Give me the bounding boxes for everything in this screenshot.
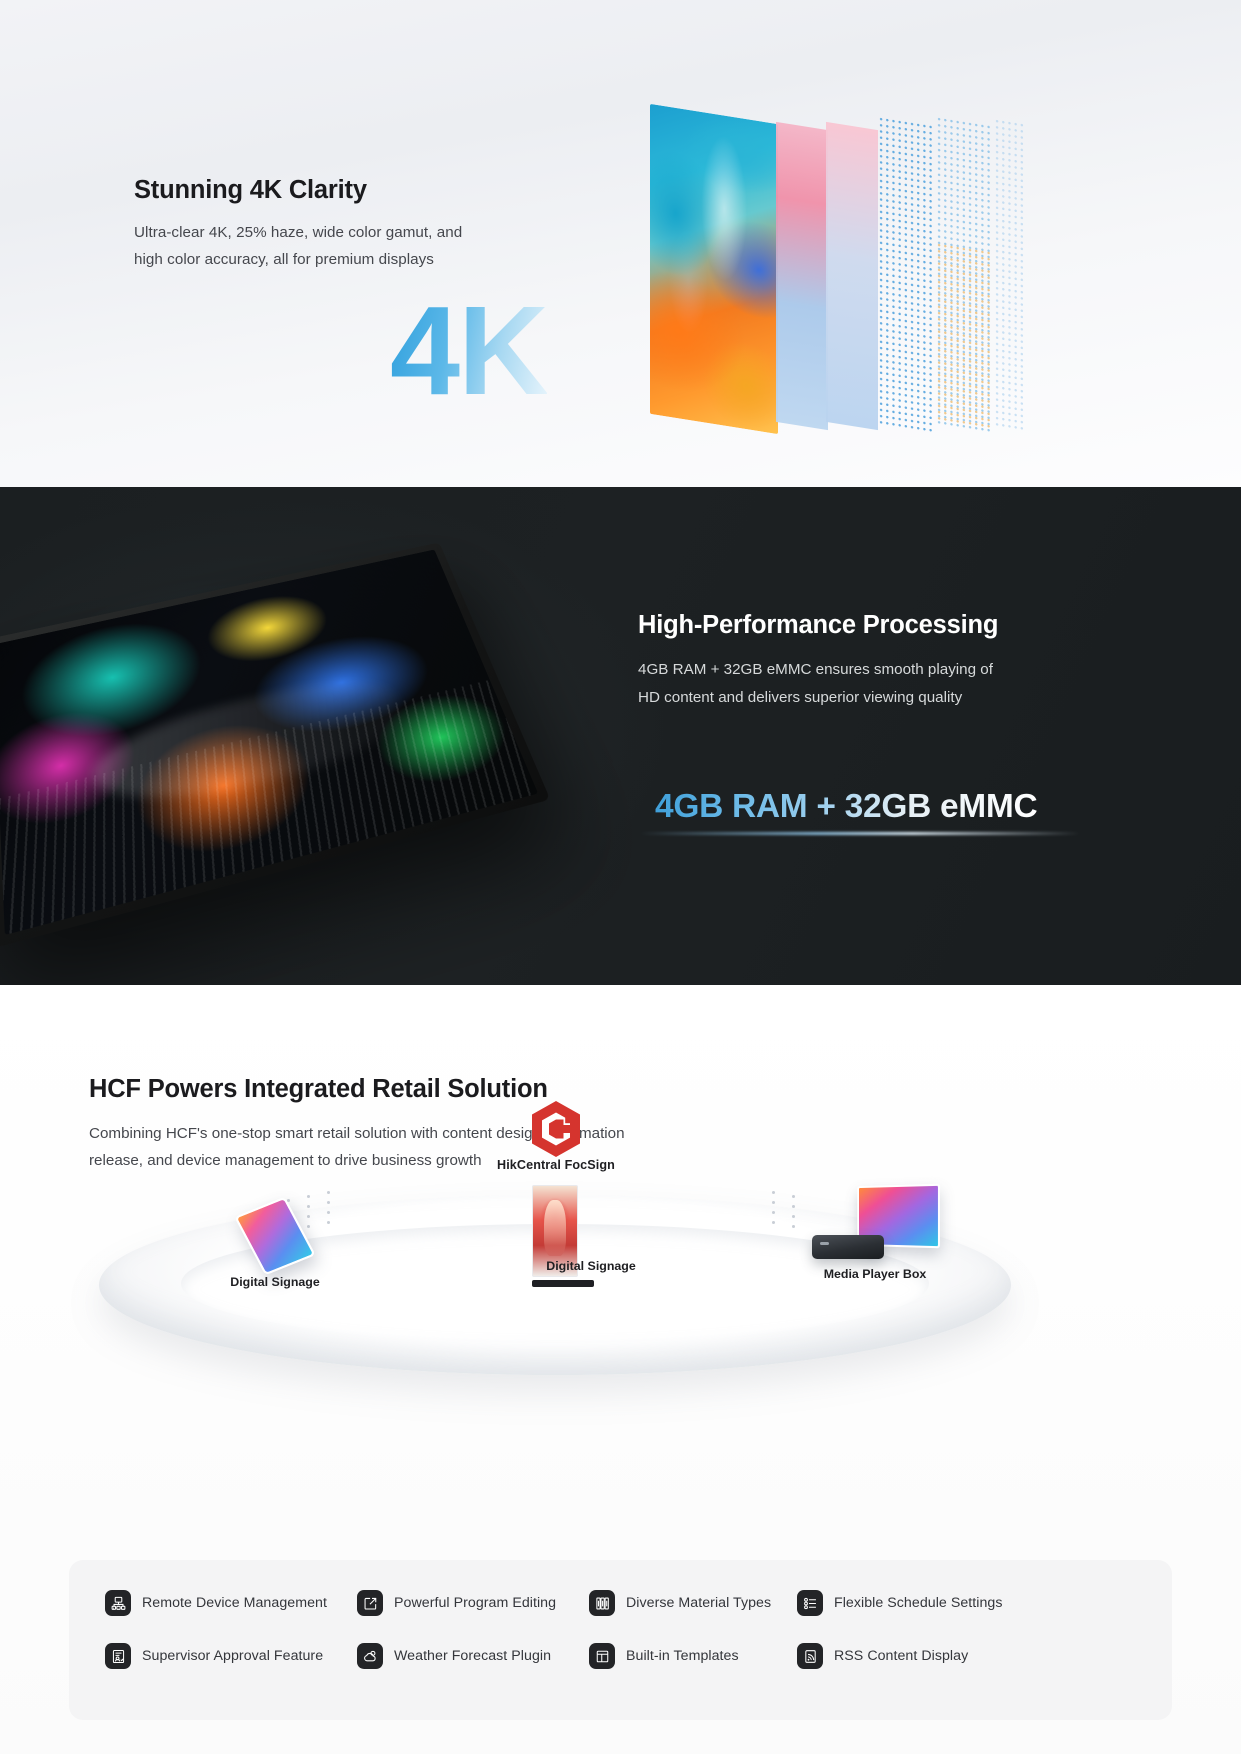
diagram-node-media-player-box[interactable]: Media Player Box [760, 1185, 990, 1281]
feature-flexible-schedule-settings[interactable]: Flexible Schedule Settings [797, 1590, 1136, 1616]
display-panel-illustration [650, 96, 1010, 446]
panel-color-face [650, 104, 778, 434]
diagram-node-digital-signage-tablet[interactable]: Digital Signage [180, 1203, 370, 1289]
feature-label: Weather Forecast Plugin [394, 1648, 551, 1664]
ecosystem-diagram: HikCentral FocSign Digital Signage [0, 1175, 1241, 1405]
feature-powerful-program-editing[interactable]: Powerful Program Editing [357, 1590, 589, 1616]
performance-subtitle-line-1: 4GB RAM + 32GB eMMC ensures smooth playi… [638, 661, 993, 678]
feature-label: Diverse Material Types [626, 1595, 771, 1611]
feature-label: RSS Content Display [834, 1648, 968, 1664]
feature-label: Supervisor Approval Feature [142, 1648, 323, 1664]
rss-feed-icon [797, 1643, 823, 1669]
pixel-grid-warm [936, 242, 992, 431]
tablet-device-icon [234, 1197, 315, 1276]
media-box-player [812, 1235, 884, 1259]
hcf-section: HCF Powers Integrated Retail Solution Co… [0, 985, 1241, 1754]
schedule-list-icon [797, 1590, 823, 1616]
feature-list-panel: Remote Device Management Powerful Progra… [69, 1560, 1172, 1720]
feature-label: Flexible Schedule Settings [834, 1595, 1003, 1611]
approval-document-icon [105, 1643, 131, 1669]
feature-built-in-templates[interactable]: Built-in Templates [589, 1643, 797, 1669]
node-label: Digital Signage [476, 1259, 706, 1273]
hikcentral-focsign-logo-icon [530, 1100, 582, 1158]
kiosk-base [532, 1280, 594, 1287]
network-device-icon [105, 1590, 131, 1616]
clarity-section: Stunning 4K Clarity Ultra-clear 4K, 25% … [0, 0, 1241, 487]
clarity-subtitle: Ultra-clear 4K, 25% haze, wide color gam… [134, 219, 654, 273]
hcf-title: HCF Powers Integrated Retail Solution [89, 1075, 949, 1104]
feature-label: Built-in Templates [626, 1648, 739, 1664]
feature-weather-forecast-plugin[interactable]: Weather Forecast Plugin [357, 1643, 589, 1669]
feature-label: Remote Device Management [142, 1595, 327, 1611]
pixel-grid-3 [994, 118, 1024, 431]
resolution-badge-4k: 4K [390, 288, 547, 414]
tablet-body [0, 542, 550, 948]
panel-slab-1 [776, 122, 828, 430]
clarity-title: Stunning 4K Clarity [134, 176, 654, 205]
feature-diverse-material-types[interactable]: Diverse Material Types [589, 1590, 797, 1616]
feature-grid: Remote Device Management Powerful Progra… [105, 1590, 1136, 1669]
node-label: Digital Signage [180, 1275, 370, 1289]
weather-cloud-icon [357, 1643, 383, 1669]
platform-label: HikCentral FocSign [420, 1158, 692, 1172]
performance-title: High-Performance Processing [638, 611, 1158, 640]
panel-slab-2 [826, 122, 878, 430]
performance-section: High-Performance Processing 4GB RAM + 32… [0, 487, 1241, 985]
pixel-grid-1 [878, 116, 934, 433]
diagram-node-digital-signage-kiosk[interactable]: Digital Signage [440, 1185, 670, 1273]
spec-underline-glow [640, 832, 1080, 835]
performance-text-block: High-Performance Processing 4GB RAM + 32… [638, 611, 1158, 712]
tablet-illustration [0, 497, 600, 985]
feature-rss-content-display[interactable]: RSS Content Display [797, 1643, 1136, 1669]
clarity-subtitle-line-1: Ultra-clear 4K, 25% haze, wide color gam… [134, 224, 462, 241]
feature-remote-device-management[interactable]: Remote Device Management [105, 1590, 357, 1616]
spec-highlight: 4GB RAM + 32GB eMMC [655, 788, 1037, 826]
node-label: Media Player Box [760, 1267, 990, 1281]
clarity-text-block: Stunning 4K Clarity Ultra-clear 4K, 25% … [134, 176, 654, 273]
tablet-screen-artwork [0, 550, 538, 935]
edit-pencil-icon [357, 1590, 383, 1616]
template-layout-icon [589, 1643, 615, 1669]
material-library-icon [589, 1590, 615, 1616]
feature-supervisor-approval[interactable]: Supervisor Approval Feature [105, 1643, 357, 1669]
feature-label: Powerful Program Editing [394, 1595, 556, 1611]
clarity-subtitle-line-2: high color accuracy, all for premium dis… [134, 251, 434, 268]
media-box-device-icon [810, 1185, 940, 1261]
performance-subtitle-line-2: HD content and delivers superior viewing… [638, 689, 962, 706]
performance-subtitle: 4GB RAM + 32GB eMMC ensures smooth playi… [638, 656, 1158, 712]
